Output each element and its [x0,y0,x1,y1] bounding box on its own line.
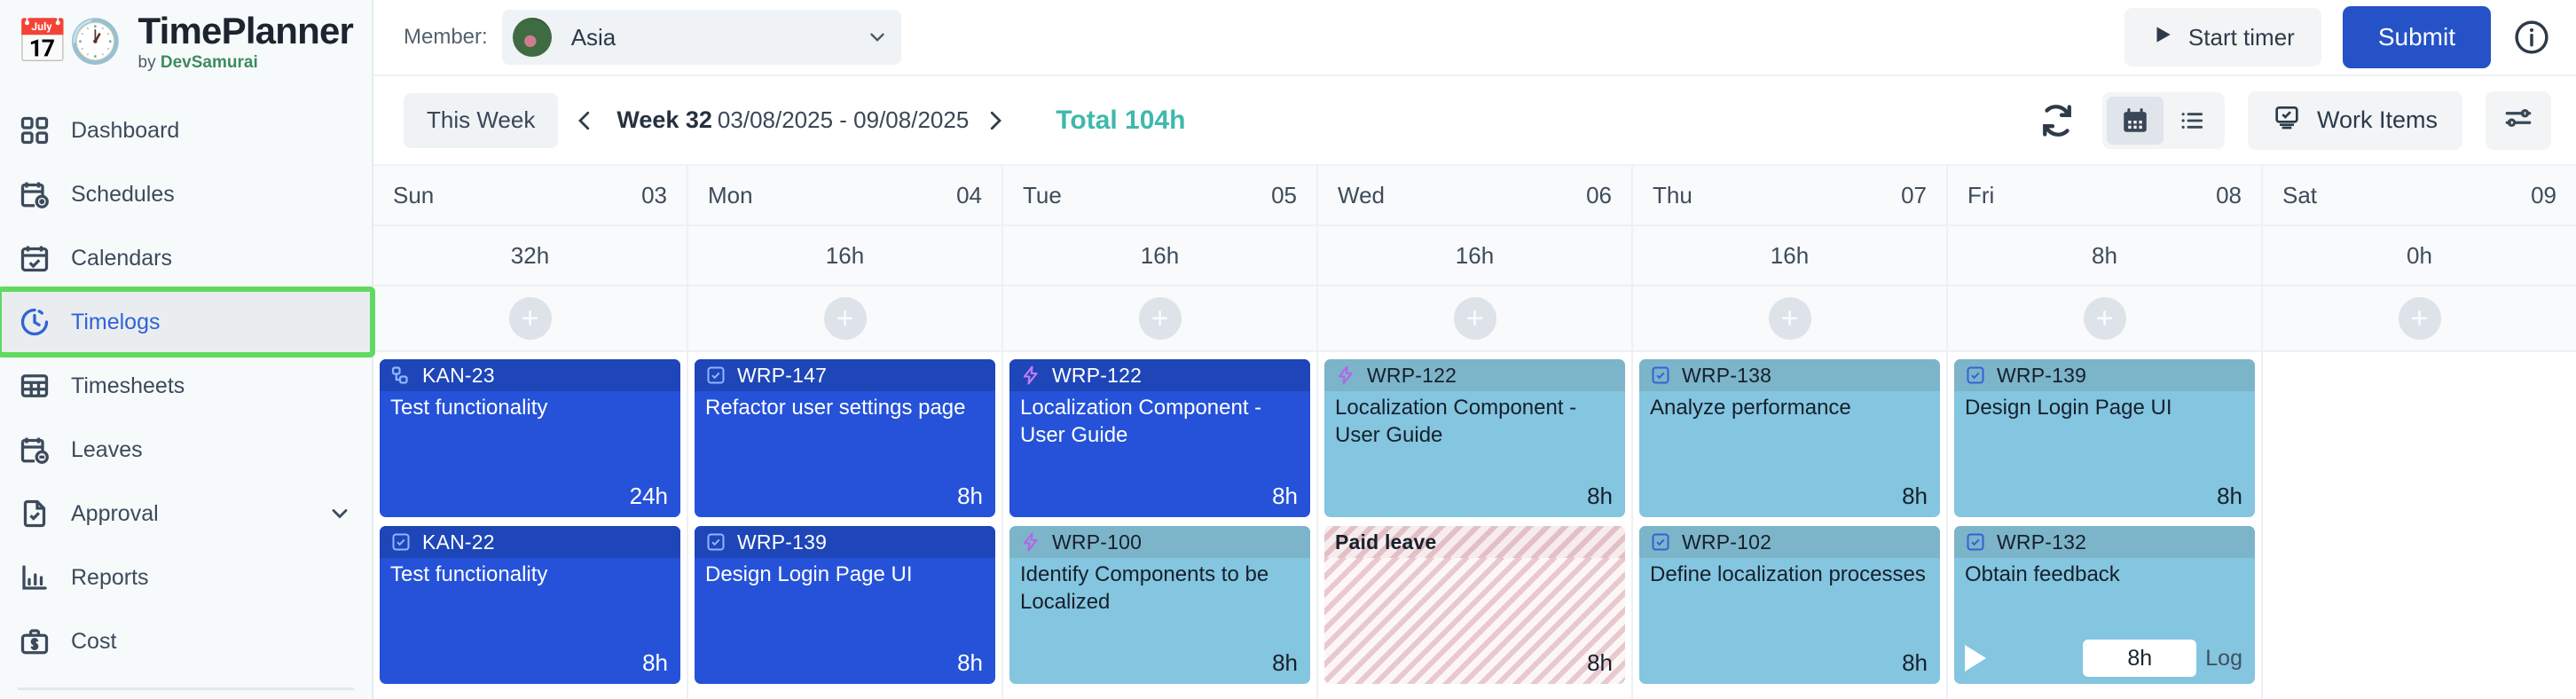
log-button[interactable]: Log [2205,646,2246,672]
card-header: Paid leave [1324,526,1625,558]
sidebar-item-label: Timelogs [71,310,161,335]
sidebar-item-timesheets[interactable]: Timesheets [0,354,372,418]
card-header: WRP-122 [1324,359,1625,391]
day-add-cell: + [1948,287,2261,352]
card-hours: 8h [957,483,983,510]
day-number: 06 [1586,182,1612,209]
schedules-icon [18,177,51,211]
toolbar-actions: Work Items [2035,91,2551,150]
member-label: Member: [404,25,488,50]
day-column-sat: Sat 09 0h + [2263,166,2576,699]
card-header: WRP-100 [1009,526,1310,558]
card-hours: 8h [1272,649,1298,677]
plus-icon[interactable]: + [2084,297,2126,340]
timelog-card[interactable]: WRP-138 Analyze performance 8h [1639,359,1940,517]
timelog-card[interactable]: WRP-147 Refactor user settings page 8h [695,359,995,517]
task-icon [1650,531,1671,553]
info-circle-icon[interactable] [2512,18,2551,57]
task-icon [705,365,726,386]
sliders-icon [2502,102,2534,138]
card-title: Test functionality [390,562,670,589]
day-header: Wed 06 [1318,166,1631,226]
main-content: Member: Asia Start timer Submit [373,0,2576,699]
sidebar-item-label: Calendars [71,246,172,271]
brand-by-prefix: by [138,53,161,72]
day-column-wed: Wed 06 16h + WRP-122 [1318,166,1633,699]
card-title: Test functionality [390,395,670,422]
sidebar-item-label: Schedules [71,182,175,208]
card-hours: 8h [1272,483,1298,510]
settings-button[interactable] [2486,91,2551,150]
list-view-icon[interactable] [2164,97,2220,145]
card-header: WRP-138 [1639,359,1940,391]
day-events: WRP-138 Analyze performance 8h WRP-102 [1633,352,1946,699]
card-body: Analyze performance [1639,391,1940,517]
subtask-icon [390,365,412,386]
day-column-fri: Fri 08 8h + WRP-139 [1948,166,2263,699]
work-items-label: Work Items [2317,106,2438,134]
day-events: WRP-147 Refactor user settings page 8h [688,352,1001,699]
card-hours: 8h [1902,483,1928,510]
log-hours-input[interactable]: 8h [2083,640,2196,677]
timelogs-icon [18,305,51,339]
card-hours: 8h [642,649,668,677]
day-name: Sat [2282,182,2317,209]
day-total: 8h [1948,226,2261,287]
card-header: WRP-122 [1009,359,1310,391]
member-name: Asia [571,24,617,51]
plus-icon[interactable]: + [824,297,867,340]
day-total: 0h [2263,226,2576,287]
day-name: Wed [1338,182,1385,209]
timelog-card[interactable]: WRP-122 Localization Component - User Gu… [1009,359,1310,517]
card-body: Test functionality [380,558,680,684]
card-body: Localization Component - User Guide [1009,391,1310,517]
task-icon [1650,365,1671,386]
card-hours: 8h [1587,649,1613,677]
day-total: 16h [1318,226,1631,287]
week-toolbar: This Week Week 32 03/08/2025 - 09/08/202… [373,76,2576,166]
card-title: Analyze performance [1650,395,1929,422]
day-events: WRP-122 Localization Component - User Gu… [1003,352,1316,699]
card-key: WRP-132 [1997,530,2086,554]
timelog-card[interactable]: KAN-22 Test functionality 8h [380,526,680,684]
day-total: 16h [1003,226,1316,287]
start-timer-button[interactable]: Start timer [2124,8,2321,67]
day-events [2263,352,2576,699]
day-add-cell: + [688,287,1001,352]
prev-week-button[interactable] [562,98,608,144]
avatar [513,18,552,57]
plus-icon[interactable]: + [1769,297,1811,340]
app-root: 📅🕐 TimePlanner by DevSamurai Dashboard S… [0,0,2576,699]
day-events: KAN-23 Test functionality 24h KAN-22 [373,352,687,699]
sidebar-item-approval[interactable]: Approval [0,482,372,546]
sidebar-item-timelogs[interactable]: Timelogs [0,290,372,354]
card-hours: 8h [1902,649,1928,677]
timelog-card[interactable]: KAN-23 Test functionality 24h [380,359,680,517]
card-key: WRP-122 [1052,364,1142,388]
sidebar: 📅🕐 TimePlanner by DevSamurai Dashboard S… [0,0,373,699]
sidebar-item-schedules[interactable]: Schedules [0,162,372,226]
card-body: Localization Component - User Guide [1324,391,1625,517]
card-header: KAN-23 [380,359,680,391]
day-add-cell: + [2263,287,2576,352]
card-log-row: 8h Log [1954,632,2255,684]
day-header: Sat 09 [2263,166,2576,226]
day-total: 32h [373,226,687,287]
sidebar-item-dashboard[interactable]: Dashboard [0,98,372,162]
chevron-down-icon[interactable] [327,501,352,526]
day-header: Sun 03 [373,166,687,226]
reports-icon [18,561,51,594]
next-week-button[interactable] [972,98,1018,144]
story-icon [1020,365,1041,386]
view-toggle [2102,92,2225,149]
story-icon [1020,531,1041,553]
day-header: Thu 07 [1633,166,1946,226]
card-title: Design Login Page UI [705,562,985,589]
day-add-cell: + [1003,287,1316,352]
day-name: Fri [1967,182,1994,209]
card-body: Refactor user settings page [695,391,995,517]
card-header: WRP-102 [1639,526,1940,558]
timelog-card[interactable]: WRP-102 Define localization processes 8h [1639,526,1940,684]
day-number: 09 [2531,182,2556,209]
dashboard-icon [18,114,51,147]
brand-title: TimePlanner [138,12,354,51]
card-key: WRP-138 [1682,364,1771,388]
day-number: 08 [2216,182,2242,209]
day-events: WRP-139 Design Login Page UI 8h WRP-132 [1948,352,2261,699]
day-add-cell: + [1318,287,1631,352]
this-week-button[interactable]: This Week [404,93,558,148]
card-hours: 8h [957,649,983,677]
card-key: WRP-102 [1682,530,1771,554]
card-header: WRP-132 [1954,526,2255,558]
day-number: 04 [956,182,982,209]
card-key: WRP-122 [1367,364,1457,388]
approval-icon [18,497,51,530]
play-icon[interactable] [1965,645,1986,672]
plus-icon[interactable]: + [2399,297,2441,340]
calendar-clock-emoji: 📅🕐 [16,21,122,64]
timelog-card[interactable]: WRP-122 Localization Component - User Gu… [1324,359,1625,517]
day-total: 16h [1633,226,1946,287]
day-header: Tue 05 [1003,166,1316,226]
day-column-tue: Tue 05 16h + WRP-122 [1003,166,1318,699]
week-range: 03/08/2025 - 09/08/2025 [718,106,969,134]
card-title: Refactor user settings page [705,395,985,422]
day-events: WRP-122 Localization Component - User Gu… [1318,352,1631,699]
calendar-view-icon[interactable] [2107,97,2164,145]
sidebar-item-label: Approval [71,501,159,527]
timelog-card[interactable]: WRP-100 Identify Components to be Locali… [1009,526,1310,684]
day-name: Sun [393,182,434,209]
card-title: Obtain feedback [1965,562,2244,589]
day-name: Thu [1653,182,1692,209]
story-icon [1335,365,1356,386]
plus-icon[interactable]: + [509,297,552,340]
total-hours: Total 104h [1056,106,1185,136]
card-title: Identify Components to be Localized [1020,562,1300,616]
brand: 📅🕐 TimePlanner by DevSamurai [0,0,372,84]
cost-icon [18,624,51,658]
card-title: Define localization processes [1650,562,1929,589]
day-number: 05 [1271,182,1297,209]
card-header: WRP-147 [695,359,995,391]
plus-icon[interactable]: + [1454,297,1496,340]
day-column-thu: Thu 07 16h + WRP-138 [1633,166,1948,699]
card-hours: 8h [2217,483,2242,510]
card-header: KAN-22 [380,526,680,558]
sidebar-item-label: Leaves [71,437,143,463]
timelog-card[interactable]: WRP-139 Design Login Page UI 8h [1954,359,2255,517]
task-icon [390,531,412,553]
day-column-mon: Mon 04 16h + WRP-147 [688,166,1003,699]
top-bar-actions: Start timer Submit [2124,6,2551,68]
card-key: WRP-100 [1052,530,1142,554]
card-hours: 8h [1587,483,1613,510]
leave-label: Paid leave [1335,530,1437,554]
play-icon [2151,23,2174,52]
card-key: KAN-23 [422,364,495,388]
week-number: Week 32 [617,106,712,134]
card-title: Design Login Page UI [1965,395,2244,422]
day-name: Tue [1023,182,1062,209]
task-icon [1965,365,1986,386]
day-add-cell: + [373,287,687,352]
sidebar-item-label: Dashboard [71,118,179,144]
brand-subtitle: by DevSamurai [138,53,354,73]
sidebar-item-cost[interactable]: Cost [0,609,372,673]
day-header: Fri 08 [1948,166,2261,226]
timelog-card-hovered[interactable]: WRP-132 Obtain feedback 8h Log [1954,526,2255,684]
start-timer-label: Start timer [2188,24,2295,51]
card-title: Localization Component - User Guide [1335,395,1614,449]
sidebar-item-label: Reports [71,565,149,591]
chevron-down-icon[interactable] [866,26,889,49]
card-key: WRP-139 [737,530,827,554]
day-number: 07 [1901,182,1927,209]
day-column-sun: Sun 03 32h + KAN-23 [373,166,688,699]
work-items-button[interactable]: Work Items [2248,91,2462,150]
timesheets-icon [18,369,51,403]
card-body: Identify Components to be Localized [1009,558,1310,684]
sidebar-nav: Dashboard Schedules Calendars Timelogs [0,84,372,690]
card-hours: 24h [630,483,668,510]
card-key: WRP-147 [737,364,827,388]
timelog-card[interactable]: WRP-139 Design Login Page UI 8h [695,526,995,684]
plus-icon[interactable]: + [1139,297,1182,340]
card-key: KAN-22 [422,530,495,554]
refresh-icon[interactable] [2035,98,2079,143]
card-body: Design Login Page UI [695,558,995,684]
work-items-icon [2273,103,2301,137]
day-total: 16h [688,226,1001,287]
card-header: WRP-139 [695,526,995,558]
day-add-cell: + [1633,287,1946,352]
sidebar-item-label: Cost [71,629,116,655]
leaves-icon [18,433,51,467]
card-body: Define localization processes [1639,558,1940,684]
card-body [1324,558,1625,684]
sidebar-item-calendars[interactable]: Calendars [0,226,372,290]
day-number: 03 [641,182,667,209]
submit-button[interactable]: Submit [2343,6,2491,68]
week-calendar: Sun 03 32h + KAN-23 [373,166,2576,699]
sidebar-divider [18,687,354,690]
card-key: WRP-139 [1997,364,2086,388]
day-name: Mon [708,182,753,209]
member-select[interactable]: Asia [502,10,901,65]
sidebar-item-reports[interactable]: Reports [0,546,372,609]
sidebar-item-label: Timesheets [71,373,185,399]
card-title: Localization Component - User Guide [1020,395,1300,449]
task-icon [705,531,726,553]
card-header: WRP-139 [1954,359,2255,391]
leave-card[interactable]: Paid leave 8h [1324,526,1625,684]
day-header: Mon 04 [688,166,1001,226]
task-icon [1965,531,1986,553]
brand-by-name: DevSamurai [161,53,258,72]
card-body: Design Login Page UI [1954,391,2255,517]
calendars-icon [18,241,51,275]
sidebar-item-leaves[interactable]: Leaves [0,418,372,482]
top-bar: Member: Asia Start timer Submit [373,0,2576,76]
